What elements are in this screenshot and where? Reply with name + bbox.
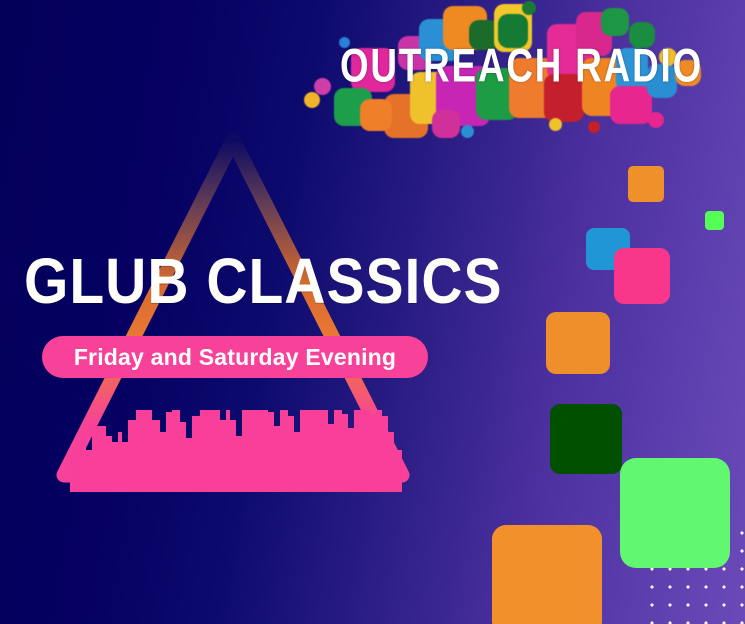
logo-color-block (461, 125, 474, 138)
logo-color-block (549, 118, 562, 131)
poster-canvas: GLUB CLASSICS Friday and Saturday Evenin… (0, 0, 745, 624)
light-green-square-large (620, 458, 730, 568)
orange-square-top (628, 166, 664, 202)
brand-logo: OUTREACH RADIO (298, 0, 745, 152)
page-title: GLUB CLASSICS (24, 248, 524, 315)
cityscape-silhouette (70, 380, 402, 492)
schedule-badge: Friday and Saturday Evening (42, 336, 428, 378)
brand-logo-text: OUTREACH RADIO (316, 40, 727, 93)
logo-color-block (304, 92, 320, 108)
dark-green-square (550, 404, 622, 474)
logo-color-block (601, 8, 629, 36)
logo-color-block (522, 1, 536, 15)
orange-square-bottom (492, 525, 602, 624)
orange-square-mid (546, 312, 610, 374)
logo-color-block (648, 112, 664, 128)
pink-square (614, 248, 670, 304)
logo-color-block (360, 99, 392, 131)
schedule-badge-label: Friday and Saturday Evening (74, 344, 396, 371)
logo-color-block (432, 110, 460, 138)
logo-color-block (588, 121, 600, 133)
green-mini-square (705, 211, 724, 230)
